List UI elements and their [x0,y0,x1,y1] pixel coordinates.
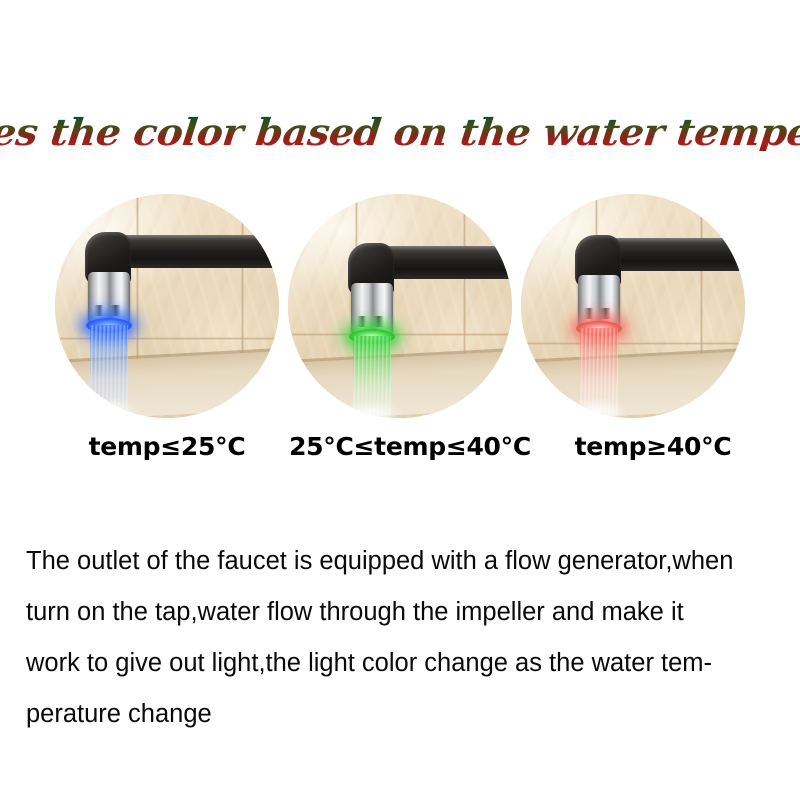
headline-banner: Changes the color based on the water tem… [0,96,800,168]
description-line: turn on the tap,water flow through the i… [26,587,786,638]
description-line: The outlet of the faucet is equipped wit… [26,536,786,587]
circle-photo-blue [55,194,279,418]
photo-cell-blue [55,194,279,418]
photo-cell-green [288,194,512,418]
caption-temp-warm: 25°C≤temp≤40°C [280,432,540,461]
description-line: perature change [26,689,786,740]
page-title: Changes the color based on the water tem… [0,114,800,151]
faucet-spout-arm [603,238,745,271]
faucet-spout-arm [376,246,512,279]
circle-photo-red [521,194,745,418]
faucet-spout-arm [113,235,279,268]
temperature-caption-row: temp≤25°C 25°C≤temp≤40°C temp≥40°C [0,432,800,472]
caption-temp-hot: temp≥40°C [523,432,783,461]
water-splash [77,398,141,418]
water-splash [565,398,629,418]
circle-photo-green [288,194,512,418]
product-photo-row [0,194,800,418]
grout-line-horizontal [521,342,745,345]
caption-temp-cold: temp≤25°C [37,432,297,461]
description-paragraph: The outlet of the faucet is equipped wit… [26,536,786,740]
description-line: work to give out light,the light color c… [26,638,786,689]
photo-cell-red [521,194,745,418]
